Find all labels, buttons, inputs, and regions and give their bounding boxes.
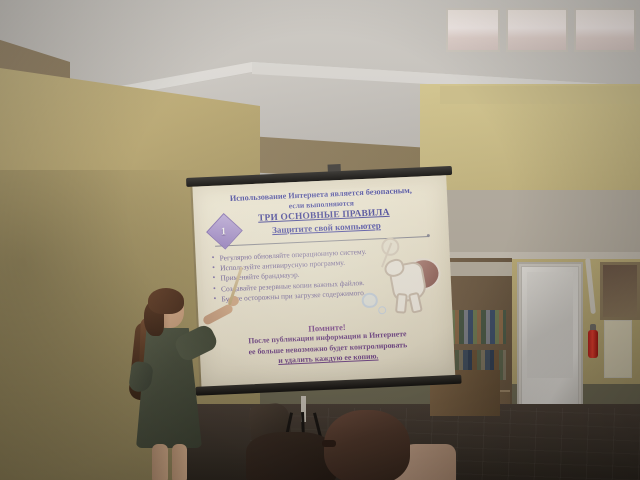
slide-canvas: Использование Интернета является безопас… — [192, 175, 455, 388]
clerestory-windows — [440, 190, 640, 252]
side-window — [600, 262, 640, 320]
sparkle-icon — [378, 306, 386, 314]
wall-right-header-strip — [440, 86, 640, 104]
wall-notice-sheet — [604, 320, 632, 378]
presenter-leg-left — [152, 444, 168, 480]
audience-hair — [324, 410, 410, 480]
slide-remember-block: Помните! После публикации информации в И… — [225, 318, 431, 369]
presenter — [118, 288, 228, 480]
window-pane-1 — [446, 8, 500, 52]
fire-extinguisher — [588, 330, 598, 358]
photo-scene: Использование Интернета является безопас… — [0, 0, 640, 480]
step-number-label: 1 — [211, 219, 236, 244]
audience-member-front — [316, 410, 442, 480]
presenter-hair-top — [148, 288, 184, 314]
slide-divider-dot — [427, 234, 430, 237]
bug-catcher-clipart-icon — [363, 237, 446, 317]
clipart-leg-left — [395, 293, 408, 314]
window-pane-2 — [506, 8, 568, 52]
slide-content: Использование Интернета является безопас… — [192, 175, 455, 388]
audience-glasses-icon — [322, 440, 336, 447]
bug-icon — [361, 292, 378, 308]
door-glass-panel — [527, 272, 573, 378]
window-pane-3 — [574, 8, 636, 52]
presenter-leg-right — [172, 444, 187, 480]
